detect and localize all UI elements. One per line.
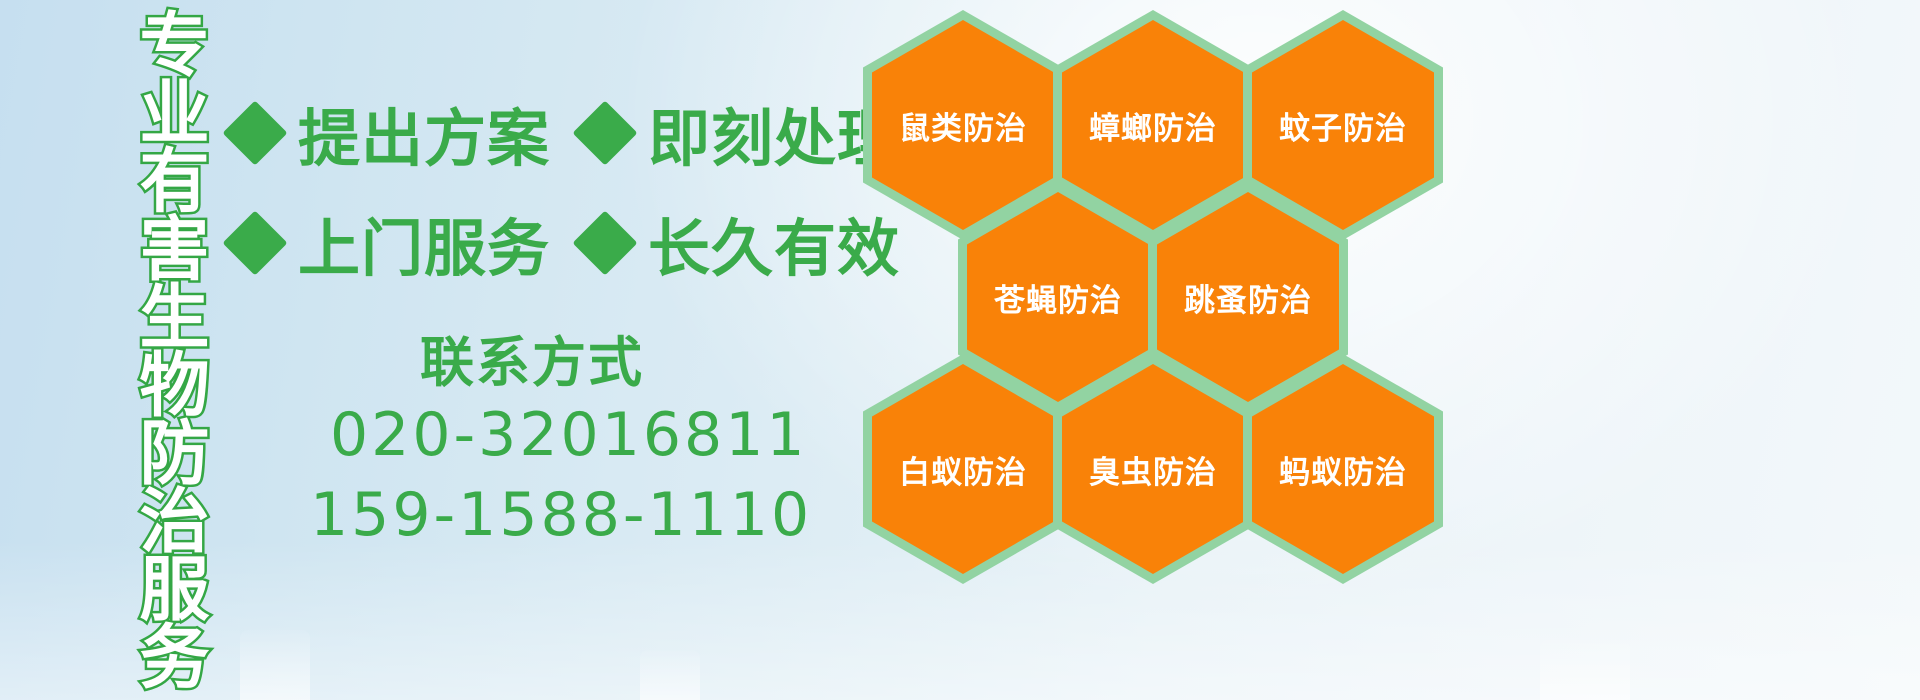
contact-heading: 联系方式 bbox=[420, 318, 644, 397]
diamond-icon bbox=[222, 100, 287, 165]
service-label: 白蚁防治 bbox=[899, 447, 1027, 492]
feature-row-1: 提出方案 即刻处理 bbox=[232, 88, 932, 178]
diamond-icon bbox=[572, 100, 637, 165]
feature-label-3: 上门服务 bbox=[298, 198, 550, 288]
service-label: 蚊子防治 bbox=[1279, 103, 1407, 148]
service-label: 鼠类防治 bbox=[899, 103, 1027, 148]
banner-root: 专业有害生物防治服务 提出方案 即刻处理 上门服务 长久有效 联系方式 020-… bbox=[0, 0, 1920, 700]
background-decor-2 bbox=[640, 650, 700, 700]
service-label: 蟑螂防治 bbox=[1089, 103, 1217, 148]
contact-phone-landline[interactable]: 020-32016811 bbox=[330, 400, 808, 470]
diamond-icon bbox=[572, 210, 637, 275]
feature-label-1: 提出方案 bbox=[298, 88, 550, 178]
service-label: 蚂蚁防治 bbox=[1279, 447, 1407, 492]
background-decor-3 bbox=[1540, 640, 1630, 700]
diamond-icon bbox=[222, 210, 287, 275]
service-honeycomb: 鼠类防治 蟑螂防治 蚊子防治 苍蝇防治 跳蚤防治 白蚁防治 臭虫防治 bbox=[855, 0, 1475, 700]
service-label: 臭虫防治 bbox=[1089, 447, 1217, 492]
background-decor-1 bbox=[240, 630, 310, 700]
service-label: 跳蚤防治 bbox=[1184, 275, 1312, 320]
service-label: 苍蝇防治 bbox=[994, 275, 1122, 320]
contact-phone-mobile[interactable]: 159-1588-1110 bbox=[310, 480, 812, 550]
feature-row-2: 上门服务 长久有效 bbox=[232, 198, 932, 288]
vertical-title: 专业有害生物防治服务 bbox=[108, 8, 204, 568]
